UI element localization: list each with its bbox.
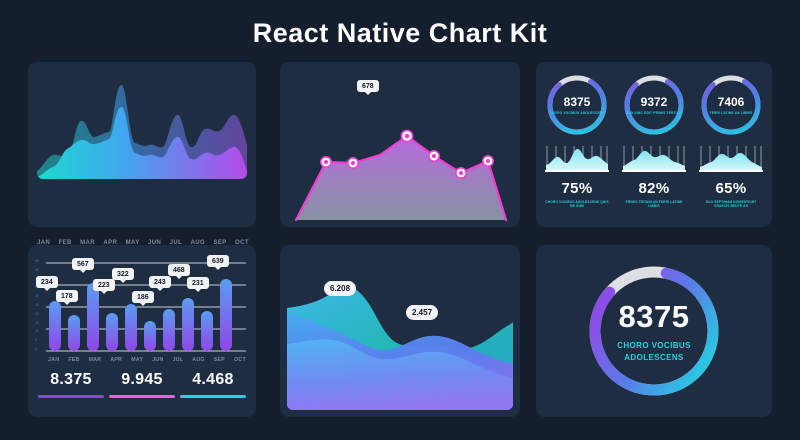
gauge-donut[interactable]: 9372 AUD DINC EDIT PRIMIS TERTIAM: [621, 72, 687, 138]
percentage-value: 75%: [544, 180, 610, 197]
sparkline-chart: [621, 144, 687, 176]
gauge-caption: CHORO VOCIBUS ADOLESCENS: [550, 111, 605, 115]
axis-label: JUL: [173, 357, 184, 363]
gauge-center: 8375 CHORO VOCIBUS ADOLESCENS: [544, 72, 610, 138]
gauge-center: 9372 AUD DINC EDIT PRIMIS TERTIAM: [621, 72, 687, 138]
panel-line-chart: 678: [280, 62, 520, 227]
wave-chart-svg: [287, 252, 513, 410]
axis-label: 15: [35, 321, 39, 325]
sparkline-svg: [621, 144, 687, 176]
gauge-center: 7406 FERRI LATINE AN LIBRIS: [698, 72, 764, 138]
percentage-caption: CHORO VOCIBUS ADOLESCENS QUIS ME EUM: [544, 200, 610, 209]
donut-center: 8375 CHORO VOCIBUS ADOLESCENS: [584, 261, 724, 401]
bar-tooltip: 231: [187, 277, 209, 289]
wave-label: 6.208: [324, 281, 356, 296]
axis-label: OCT: [234, 357, 246, 363]
axis-label: AUG: [192, 357, 204, 363]
percentage-item: 75% CHORO VOCIBUS ADOLESCENS QUIS ME EUM: [544, 180, 610, 209]
sparkline-svg: [544, 144, 610, 176]
axis-label: JUN: [152, 357, 163, 363]
bar-tooltip: 234: [36, 276, 58, 288]
axis-label: MAR: [89, 357, 102, 363]
axis-label: 30: [35, 294, 39, 298]
percentage-caption: PRIMIS TRITANI AN FERRI LATINE LIBRIS: [621, 200, 687, 209]
bar-chart-y-axis: 50 45 40 35 30 25 20 15 10 5 0: [35, 259, 39, 351]
bar-tooltip: 186: [132, 291, 154, 303]
bar-tooltip: 178: [56, 290, 78, 302]
bar-chart-svg: [46, 257, 246, 353]
sparkline-svg: [698, 144, 764, 176]
bar-chart-x-axis: JAN FEB MAR APR MAY JUN JUL AUG SEP OCT: [48, 357, 246, 363]
dashboard-page: React Native Chart Kit: [0, 0, 800, 440]
stat-item: 8.375: [38, 371, 104, 398]
line-chart-svg: [290, 100, 512, 228]
donut-caption-line2: ADOLESCENS: [617, 352, 691, 364]
axis-label: APR: [110, 357, 122, 363]
line-chart-tooltip: 678: [357, 80, 379, 92]
axis-label: 20: [35, 312, 39, 316]
wave-chart: [287, 252, 513, 410]
stat-underline: [109, 395, 175, 398]
sparkline-area: [546, 149, 608, 170]
gauge-caption: FERRI LATINE AN LIBRIS: [710, 111, 753, 115]
sparkline-area: [700, 153, 762, 170]
bar-tooltip: 468: [168, 264, 190, 276]
axis-label: JAN: [48, 357, 59, 363]
main-donut[interactable]: 8375 CHORO VOCIBUS ADOLESCENS: [584, 261, 724, 401]
stat-underline: [180, 395, 246, 398]
panel-main-donut: 8375 CHORO VOCIBUS ADOLESCENS: [536, 245, 772, 417]
sparkline-row: [544, 144, 764, 176]
bar-tooltip: 639: [207, 255, 229, 267]
axis-label: MAY: [131, 357, 143, 363]
axis-label: 0: [35, 347, 39, 351]
page-title: React Native Chart Kit: [0, 18, 800, 49]
donut-caption: CHORO VOCIBUS ADOLESCENS: [617, 340, 691, 363]
percentage-value: 65%: [698, 180, 764, 197]
stat-value: 4.468: [180, 371, 246, 389]
panel-area-chart: JAN FEB MAR APR MAY JUN JUL AUG SEP OCT …: [28, 62, 256, 227]
axis-label: 5: [35, 338, 39, 342]
area-chart-svg: [37, 71, 247, 179]
percentage-item: 82% PRIMIS TRITANI AN FERRI LATINE LIBRI…: [621, 180, 687, 209]
sparkline-chart: [698, 144, 764, 176]
panel-gauges: 8375 CHORO VOCIBUS ADOLESCENS 9372 AUD D…: [536, 62, 772, 227]
stat-item: 4.468: [180, 371, 246, 398]
donut-value: 8375: [619, 299, 690, 335]
panel-bar-chart: 50 45 40 35 30 25 20 15 10 5 0: [28, 245, 256, 417]
stat-value: 9.945: [109, 371, 175, 389]
gauge-donut[interactable]: 7406 FERRI LATINE AN LIBRIS: [698, 72, 764, 138]
gauge-donut[interactable]: 8375 CHORO VOCIBUS ADOLESCENS: [544, 72, 610, 138]
bar-tooltip: 567: [72, 258, 94, 270]
percentage-caption: DUO SEPTIMAM DISSENTIUNT GRAECIS BRUTE A…: [698, 200, 764, 209]
bar-tooltip: 243: [149, 276, 171, 288]
gauge-value: 8375: [564, 95, 591, 109]
axis-label: 45: [35, 268, 39, 272]
sparkline-chart: [544, 144, 610, 176]
bar-tooltip: 322: [112, 268, 134, 280]
line-chart-area: [296, 136, 506, 220]
area-stream-chart: [37, 71, 247, 179]
axis-label: 25: [35, 303, 39, 307]
gauge-caption: AUD DINC EDIT PRIMIS TERTIAM: [626, 111, 682, 115]
axis-label: 10: [35, 329, 39, 333]
panel-wave-chart: 6.208 2.457: [280, 245, 520, 417]
gauge-value: 7406: [718, 95, 745, 109]
stat-underline: [38, 395, 104, 398]
gauge-donut-row: 8375 CHORO VOCIBUS ADOLESCENS 9372 AUD D…: [544, 72, 764, 138]
stat-item: 9.945: [109, 371, 175, 398]
axis-label: 50: [35, 259, 39, 263]
percentage-item: 65% DUO SEPTIMAM DISSENTIUNT GRAECIS BRU…: [698, 180, 764, 209]
bar-tooltip: 223: [93, 279, 115, 291]
axis-label: SEP: [214, 357, 225, 363]
donut-caption-line1: CHORO VOCIBUS: [617, 340, 691, 352]
stat-value: 8.375: [38, 371, 104, 389]
wave-label: 2.457: [406, 305, 438, 320]
sparkline-area: [623, 151, 685, 170]
stat-row: 8.375 9.945 4.468: [38, 371, 246, 398]
percentage-value: 82%: [621, 180, 687, 197]
gauge-value: 9372: [641, 95, 668, 109]
percentage-row: 75% CHORO VOCIBUS ADOLESCENS QUIS ME EUM…: [544, 180, 764, 209]
axis-label: FEB: [68, 357, 79, 363]
